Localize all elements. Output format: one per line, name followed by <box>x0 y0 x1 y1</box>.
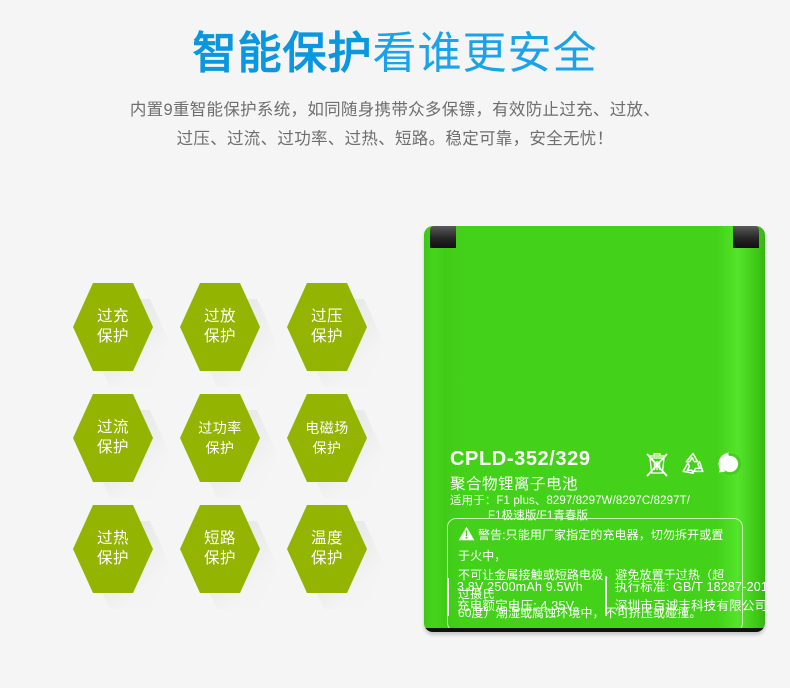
hex-item-overheat: 过热 保护 <box>73 505 153 593</box>
hex-item-temperature: 温度 保护 <box>287 505 367 593</box>
hex-label-line-1: 短路 <box>204 529 236 549</box>
battery-spec-electrical: 3.8V 2500mAh 9.5Wh 充电额定电压: 4.35V <box>447 578 583 616</box>
crossed-out-wheelie-bin-icon <box>645 450 669 478</box>
battery-spec-company: 深圳市百诚丰科技有限公司 <box>615 597 765 616</box>
hex-label-line-2: 保护 <box>311 549 343 569</box>
hex-label-line-1: 过流 <box>97 418 129 438</box>
page-title-emphasis: 智能保护 <box>193 29 373 78</box>
page-subtitle-line-2: 过压、过流、过功率、过热、短路。稳定可靠，安全无忧！ <box>0 125 790 154</box>
battery-warning-line-1: 警告:只能用厂家指定的充电器，切勿拆开或置于火中， <box>458 528 723 563</box>
svg-text:5: 5 <box>726 457 733 472</box>
page-title: 智能保护看谁更安全 <box>0 26 790 82</box>
hex-label-line-1: 过功率 <box>198 418 242 438</box>
page-title-rest: 看谁更安全 <box>373 29 598 78</box>
page-subtitle-line-1: 内置9重智能保护系统，如同随身携带众多保镖，有效防止过充、过放、 <box>0 96 790 125</box>
battery-contact-notch-right <box>733 226 759 248</box>
battery-specifications: 3.8V 2500mAh 9.5Wh 充电额定电压: 4.35V 执行标准: G… <box>447 578 765 616</box>
hex-label-line-2: 保护 <box>206 438 235 458</box>
hex-label-line-2: 保护 <box>311 327 343 347</box>
hex-label-line-2: 保护 <box>97 438 129 458</box>
hex-label-line-2: 保护 <box>313 438 342 458</box>
hex-item-overpower: 过功率 保护 <box>180 394 260 482</box>
battery-spec-capacity: 3.8V 2500mAh 9.5Wh <box>457 578 583 597</box>
circular-5-icon: 5 <box>717 451 743 477</box>
battery-compatibility-line-1: 适用于：F1 plus、8297/8297W/8297C/8297T/ <box>450 495 690 507</box>
battery-compliance-icons: 5 <box>645 450 743 478</box>
hex-item-overdischarge: 过放 保护 <box>180 283 260 371</box>
hex-label-line-2: 保护 <box>97 549 129 569</box>
battery-spec-standard: 执行标准: GB/T 18287-2013 <box>615 578 765 597</box>
hex-item-overcharge: 过充 保护 <box>73 283 153 371</box>
battery-product-image: CPLD-352/329 聚合物锂离子电池 适用于：F1 plus、8297/8… <box>424 226 765 632</box>
hex-item-electromagnetic: 电磁场 保护 <box>287 394 367 482</box>
hex-item-overvoltage: 过压 保护 <box>287 283 367 371</box>
page-subtitle: 内置9重智能保护系统，如同随身携带众多保镖，有效防止过充、过放、 过压、过流、过… <box>0 96 790 154</box>
battery-contact-notch-left <box>430 226 456 248</box>
hex-label-line-2: 保护 <box>204 327 236 347</box>
page-header: 智能保护看谁更安全 内置9重智能保护系统，如同随身携带众多保镖，有效防止过充、过… <box>0 0 790 154</box>
hex-label-line-1: 过放 <box>204 307 236 327</box>
hex-label-line-2: 保护 <box>97 327 129 347</box>
hex-label-line-1: 过充 <box>97 307 129 327</box>
hex-item-short-circuit: 短路 保护 <box>180 505 260 593</box>
hex-label-line-1: 过压 <box>311 307 343 327</box>
battery-model-number: CPLD-352/329 <box>450 448 591 471</box>
battery-bottom-edge <box>424 628 765 632</box>
hex-item-overcurrent: 过流 保护 <box>73 394 153 482</box>
recycling-loop-icon <box>679 450 707 478</box>
battery-spec-manufacturer: 执行标准: GB/T 18287-2013 深圳市百诚丰科技有限公司 <box>605 578 765 616</box>
protection-hex-grid: 过充 保护 过放 保护 过压 保护 过流 保护 过功率 保护 <box>68 278 388 598</box>
hex-label-line-2: 保护 <box>204 549 236 569</box>
battery-spec-charge-voltage: 充电额定电压: 4.35V <box>457 597 583 616</box>
battery-chemistry-type: 聚合物锂离子电池 <box>450 472 578 494</box>
hex-label-line-1: 电磁场 <box>305 418 349 438</box>
hex-label-line-1: 温度 <box>311 529 343 549</box>
hex-label-line-1: 过热 <box>97 529 129 549</box>
warning-triangle-icon <box>458 526 475 547</box>
